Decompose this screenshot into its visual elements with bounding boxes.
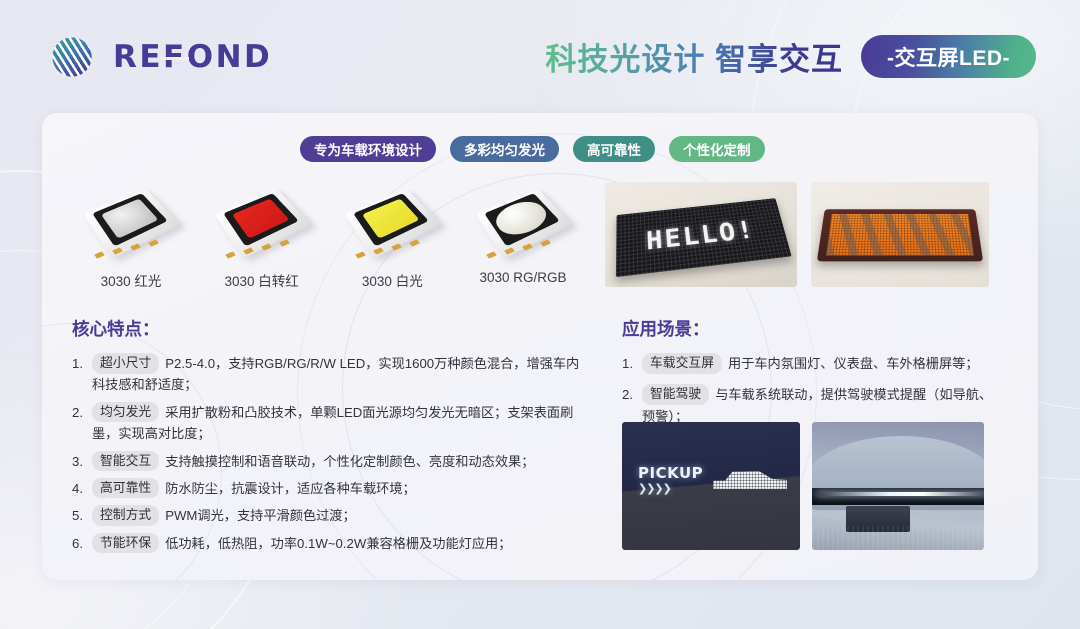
pickup-led-artwork: PICKUP ❯❯❯❯ (638, 464, 787, 495)
tag-list: 专为车载环境设计 多彩均匀发光 高可靠性 个性化定制 (300, 136, 765, 162)
list-item-text: 支持触摸控制和语音联动，个性化定制颜色、亮度和动态效果； (165, 454, 534, 469)
list-item: 2. 智能驾驶与车载系统联动，提供驾驶模式提醒（如导航、预警）； (622, 384, 1002, 427)
hello-text: HELLO! (645, 216, 758, 256)
list-item-body: 高可靠性防水防尘，抗震设计，适应各种车载环境； (92, 478, 592, 499)
orange-led-matrix (826, 214, 974, 256)
list-item-keyword: 超小尺寸 (92, 353, 159, 374)
pixel-car-icon (713, 467, 787, 493)
list-item-number: 5. (72, 505, 92, 526)
list-item-text: 低功耗，低热阻，功率0.1W~0.2W兼容格栅及功能灯应用； (165, 536, 511, 551)
photo-row-top: HELLO! (605, 182, 989, 287)
led-package-icon-2 (346, 182, 438, 260)
list-item: 4. 高可靠性防水防尘，抗震设计，适应各种车载环境； (72, 478, 592, 499)
orange-led-grille-panel-photo (811, 182, 989, 287)
led-solder-pads (346, 244, 438, 260)
brand-logo: REFOND (44, 29, 272, 85)
list-item-number: 3. (72, 451, 92, 472)
product-label-0: 3030 红光 (101, 270, 162, 290)
list-item: 2. 均匀发光采用扩散粉和凸胶技术，单颗LED面光源均匀发光无暗区；支架表面刷墨… (72, 402, 592, 445)
list-item: 5. 控制方式PWM调光，支持平滑颜色过渡； (72, 505, 592, 526)
list-item-body: 均匀发光采用扩散粉和凸胶技术，单颗LED面光源均匀发光无暗区；支架表面刷墨，实现… (92, 402, 592, 445)
product-label-2: 3030 白光 (362, 270, 423, 290)
list-item-body: 智能驾驶与车载系统联动，提供驾驶模式提醒（如导航、预警）； (642, 384, 1002, 427)
car-lightbar (816, 492, 984, 496)
list-item: 1. 超小尺寸P2.5-4.0，支持RGB/RG/R/W LED，实现1600万… (72, 353, 592, 396)
photo-row-bottom: PICKUP ❯❯❯❯ (622, 422, 984, 550)
list-item-text: PWM调光，支持平滑颜色过渡； (165, 508, 355, 523)
applications-section: 应用场景： 1. 车载交互屏用于车内氛围灯、仪表盘、车外格栅屏等； 2. 智能驾… (622, 316, 1002, 437)
list-item-number: 2. (72, 402, 92, 445)
led-solder-pads (216, 244, 308, 260)
product-label-3: 3030 RG/RGB (479, 270, 566, 285)
list-item-keyword: 智能交互 (92, 451, 159, 472)
list-item-keyword: 节能环保 (92, 533, 159, 554)
product-item-1: 3030 白转红 (203, 182, 321, 290)
led-solder-pads (85, 244, 177, 260)
features-title: 核心特点： (72, 316, 592, 341)
tag-item-3: 个性化定制 (669, 136, 765, 162)
list-item-keyword: 智能驾驶 (642, 384, 709, 405)
list-item-body: 智能交互支持触摸控制和语音联动，个性化定制颜色、亮度和动态效果； (92, 451, 592, 472)
applications-title: 应用场景： (622, 316, 1002, 341)
car-lower-bumper (812, 526, 984, 550)
list-item-text: 防水防尘，抗震设计，适应各种车载环境； (165, 481, 416, 496)
pickup-led-grille-display-photo: PICKUP ❯❯❯❯ (622, 422, 800, 550)
orange-led-frame (817, 209, 983, 261)
page-header: REFOND 科技光设计 智享交互 -交互屏LED- (0, 0, 1080, 113)
list-item-keyword: 均匀发光 (92, 402, 159, 423)
tag-item-1: 多彩均匀发光 (450, 136, 559, 162)
led-solder-pads (477, 244, 569, 260)
arrows-icon: ❯❯❯❯ (638, 482, 703, 495)
led-package-icon-0 (85, 182, 177, 260)
pickup-label-group: PICKUP ❯❯❯❯ (638, 464, 703, 495)
list-item-number: 6. (72, 533, 92, 554)
status-badge: -交互屏LED- (861, 35, 1036, 78)
product-item-2: 3030 白光 (333, 182, 451, 290)
product-gallery: 3030 红光 3030 白转红 3030 白光 3030 RG/RGB (72, 182, 582, 290)
features-section: 核心特点： 1. 超小尺寸P2.5-4.0，支持RGB/RG/R/W LED，实… (72, 316, 592, 560)
list-item: 1. 车载交互屏用于车内氛围灯、仪表盘、车外格栅屏等； (622, 353, 1002, 374)
pickup-text: PICKUP (638, 464, 703, 482)
refond-globe-stripes-icon (44, 29, 100, 85)
list-item-number: 1. (622, 353, 642, 374)
header-title-group: 科技光设计 智享交互 -交互屏LED- (545, 34, 1036, 79)
list-item-body: 控制方式PWM调光，支持平滑颜色过渡； (92, 505, 592, 526)
list-item-number: 4. (72, 478, 92, 499)
list-item-body: 节能环保低功耗，低热阻，功率0.1W~0.2W兼容格栅及功能灯应用； (92, 533, 592, 554)
hello-led-panel-photo: HELLO! (605, 182, 797, 287)
list-item: 6. 节能环保低功耗，低热阻，功率0.1W~0.2W兼容格栅及功能灯应用； (72, 533, 592, 554)
tag-item-0: 专为车载环境设计 (300, 136, 436, 162)
list-item-number: 2. (622, 384, 642, 427)
product-label-1: 3030 白转红 (225, 270, 299, 290)
brand-name-part2: OND (187, 39, 273, 75)
list-item-number: 1. (72, 353, 92, 396)
list-item: 3. 智能交互支持触摸控制和语音联动，个性化定制颜色、亮度和动态效果； (72, 451, 592, 472)
list-item-body: 超小尺寸P2.5-4.0，支持RGB/RG/R/W LED，实现1600万种颜色… (92, 353, 592, 396)
car-front-lightbar-photo (812, 422, 984, 550)
list-item-text: 采用扩散粉和凸胶技术，单颗LED面光源均匀发光无暗区；支架表面刷墨，实现高对比度… (92, 405, 573, 441)
brand-name-strike: F (163, 39, 187, 75)
product-item-0: 3030 红光 (72, 182, 190, 290)
list-item-body: 车载交互屏用于车内氛围灯、仪表盘、车外格栅屏等； (642, 353, 1002, 374)
list-item-keyword: 高可靠性 (92, 478, 159, 499)
tag-item-2: 高可靠性 (573, 136, 655, 162)
led-package-icon-3 (477, 182, 569, 260)
list-item-text: P2.5-4.0，支持RGB/RG/R/W LED，实现1600万种颜色混合，增… (92, 356, 579, 392)
car-grille (812, 488, 984, 505)
product-item-3: 3030 RG/RGB (464, 182, 582, 290)
applications-list: 1. 车载交互屏用于车内氛围灯、仪表盘、车外格栅屏等； 2. 智能驾驶与车载系统… (622, 353, 1002, 427)
brand-name: REFOND (113, 39, 272, 75)
hello-led-matrix: HELLO! (616, 198, 792, 277)
features-list: 1. 超小尺寸P2.5-4.0，支持RGB/RG/R/W LED，实现1600万… (72, 353, 592, 554)
list-item-keyword: 控制方式 (92, 505, 159, 526)
led-package-icon-1 (216, 182, 308, 260)
page-title: 科技光设计 智享交互 (545, 34, 843, 79)
brand-name-part1: RE (113, 39, 163, 75)
list-item-text: 用于车内氛围灯、仪表盘、车外格栅屏等； (728, 356, 979, 371)
list-item-keyword: 车载交互屏 (642, 353, 722, 374)
